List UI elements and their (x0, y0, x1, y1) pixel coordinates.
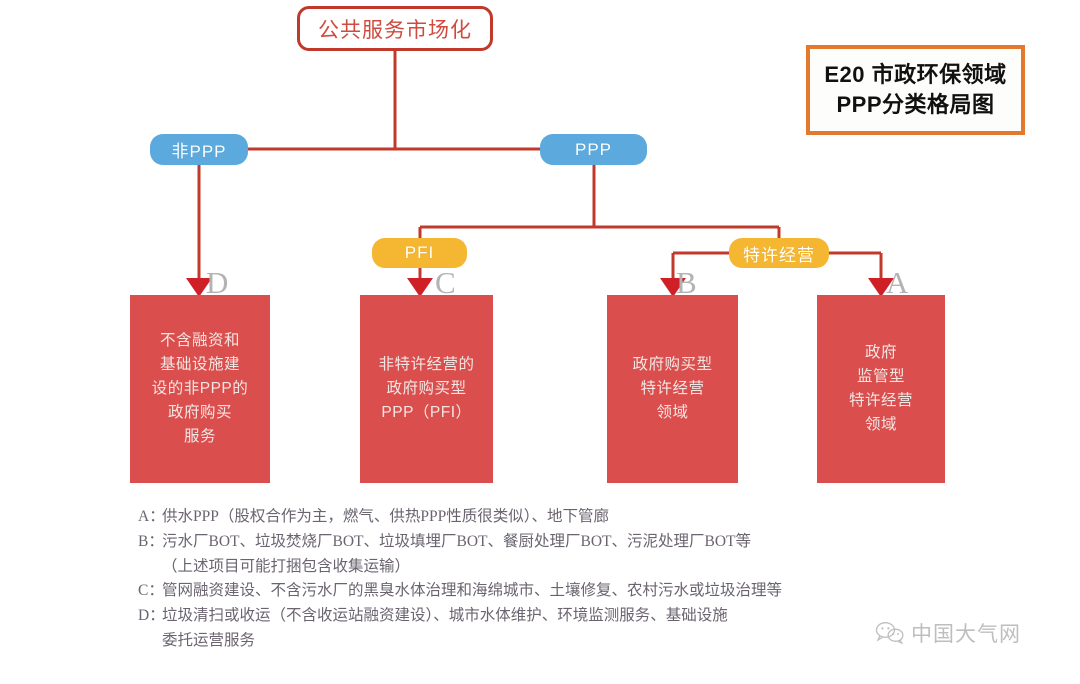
legend-cont-d: 委托运营服务 (138, 629, 978, 653)
legend-row-b: B： 污水厂BOT、垃圾焚烧厂BOT、垃圾填埋厂BOT、餐厨处理厂BOT、污泥处… (138, 530, 978, 554)
legend-key-c: C： (138, 579, 162, 603)
leaf-box-c[interactable]: 非特许经营的 政府购买型 PPP（PFI） (360, 295, 493, 483)
legend-text-c: 管网融资建设、不含污水厂的黑臭水体治理和海绵城市、土壤修复、农村污水或垃圾治理等 (162, 579, 978, 603)
legend-row-d: D： 垃圾清扫或收运（不含收运站融资建设）、城市水体维护、环境监测服务、基础设施 (138, 604, 978, 628)
legend-key-d: D： (138, 604, 162, 628)
leaf-box-a-text: 政府 监管型 特许经营 领域 (849, 341, 913, 437)
node-non-ppp[interactable]: 非PPP (150, 134, 248, 165)
watermark-text: 中国大气网 (911, 618, 1021, 648)
legend-key-b: B： (138, 530, 162, 554)
leaf-box-c-text: 非特许经营的 政府购买型 PPP（PFI） (378, 353, 474, 425)
diagram-canvas: 公共服务市场化 非PPP PPP PFI 特许经营 不含融资和 基础设施建 设的… (0, 0, 1080, 684)
title-card-line1: E20 市政环保领域 (824, 60, 1006, 90)
watermark: 中国大气网 (875, 618, 1021, 648)
legend-cont-b: （上述项目可能打捆包含收集运输） (138, 555, 978, 579)
node-ppp-label: PPP (575, 140, 612, 160)
legend-text-b: 污水厂BOT、垃圾焚烧厂BOT、垃圾填埋厂BOT、餐厨处理厂BOT、污泥处理厂B… (162, 530, 978, 554)
node-franchise[interactable]: 特许经营 (729, 238, 829, 268)
legend-text-d: 垃圾清扫或收运（不含收运站融资建设）、城市水体维护、环境监测服务、基础设施 (162, 604, 978, 628)
node-non-ppp-label: 非PPP (171, 137, 226, 162)
leaf-box-d-text: 不含融资和 基础设施建 设的非PPP的 政府购买 服务 (152, 329, 249, 449)
legend-text-a: 供水PPP（股权合作为主，燃气、供热PPP性质很类似）、地下管廊 (162, 505, 978, 529)
wechat-icon (875, 621, 905, 645)
legend-row-a: A： 供水PPP（股权合作为主，燃气、供热PPP性质很类似）、地下管廊 (138, 505, 978, 529)
leaf-box-b-text: 政府购买型 特许经营 领域 (632, 353, 712, 425)
legend-row-c: C： 管网融资建设、不含污水厂的黑臭水体治理和海绵城市、土壤修复、农村污水或垃圾… (138, 579, 978, 603)
leaf-box-b[interactable]: 政府购买型 特许经营 领域 (607, 295, 738, 483)
leaf-letter-b: B (676, 267, 697, 298)
title-card-line2: PPP分类格局图 (836, 90, 994, 120)
leaf-letter-c: C (435, 267, 456, 298)
node-ppp[interactable]: PPP (540, 134, 647, 165)
root-node[interactable]: 公共服务市场化 (297, 6, 493, 51)
leaf-box-a[interactable]: 政府 监管型 特许经营 领域 (817, 295, 945, 483)
leaf-letter-d: D (206, 267, 228, 298)
node-pfi-label: PFI (405, 243, 434, 263)
root-node-label: 公共服务市场化 (318, 14, 472, 44)
title-card: E20 市政环保领域 PPP分类格局图 (806, 45, 1025, 135)
leaf-box-d[interactable]: 不含融资和 基础设施建 设的非PPP的 政府购买 服务 (130, 295, 270, 483)
legend-key-a: A： (138, 505, 162, 529)
node-pfi[interactable]: PFI (372, 238, 467, 268)
leaf-letter-a: A (886, 267, 908, 298)
legend: A： 供水PPP（股权合作为主，燃气、供热PPP性质很类似）、地下管廊 B： 污… (138, 505, 978, 653)
node-franchise-label: 特许经营 (743, 241, 815, 266)
